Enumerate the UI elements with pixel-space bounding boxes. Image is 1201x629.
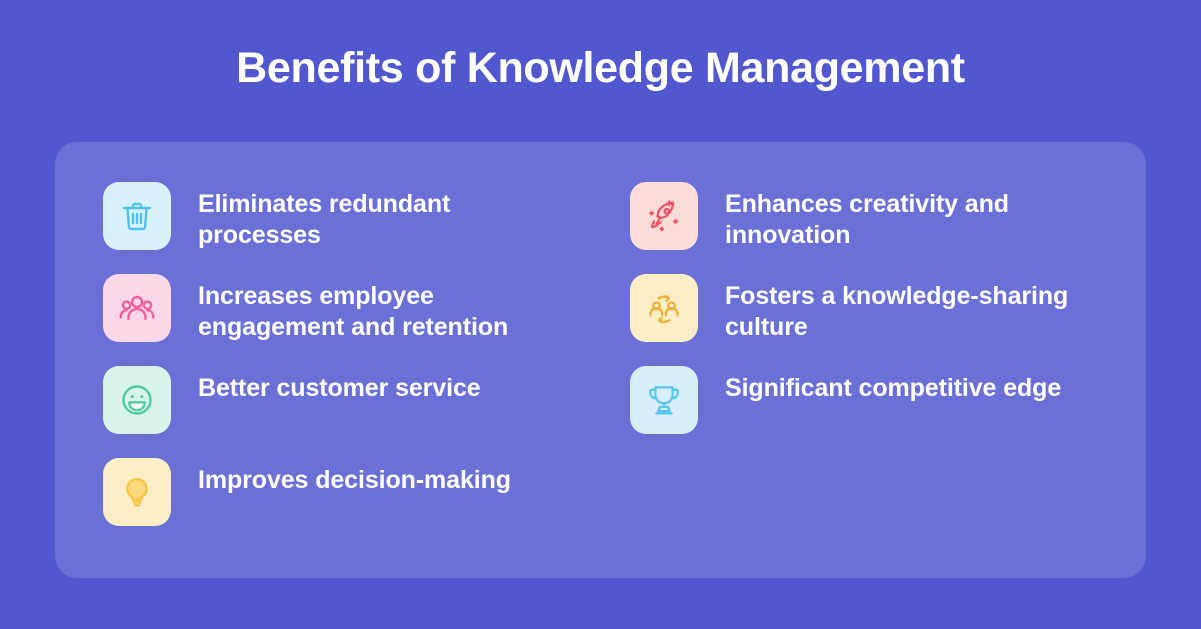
list-item[interactable]: Eliminates redundant processes [103, 182, 573, 252]
smiley-face-icon [103, 366, 171, 434]
list-item[interactable]: Significant competitive edge [630, 366, 1100, 436]
page-title: Benefits of Knowledge Management [0, 44, 1201, 93]
rocket-icon [630, 182, 698, 250]
trophy-icon [630, 366, 698, 434]
list-item-label: Improves decision-making [198, 458, 511, 496]
list-item-label: Increases employee engagement and retent… [198, 274, 570, 342]
benefits-panel: Eliminates redundant processes Increases… [55, 142, 1146, 578]
list-item-label: Enhances creativity and innovation [725, 182, 1097, 250]
list-item[interactable]: Increases employee engagement and retent… [103, 274, 573, 344]
list-item[interactable]: Enhances creativity and innovation [630, 182, 1100, 252]
list-item-label: Eliminates redundant processes [198, 182, 570, 250]
list-item-label: Better customer service [198, 366, 481, 404]
knowledge-sharing-icon [630, 274, 698, 342]
slide-root: Benefits of Knowledge Management Elimina… [0, 0, 1201, 629]
list-item-label: Fosters a knowledge-sharing culture [725, 274, 1097, 342]
lightbulb-icon [103, 458, 171, 526]
people-group-icon [103, 274, 171, 342]
benefits-column-left: Eliminates redundant processes Increases… [103, 182, 573, 550]
list-item[interactable]: Better customer service [103, 366, 573, 436]
benefits-column-right: Enhances creativity and innovation [630, 182, 1100, 458]
list-item[interactable]: Fosters a knowledge-sharing culture [630, 274, 1100, 344]
list-item[interactable]: Improves decision-making [103, 458, 573, 528]
list-item-label: Significant competitive edge [725, 366, 1061, 404]
trash-icon [103, 182, 171, 250]
